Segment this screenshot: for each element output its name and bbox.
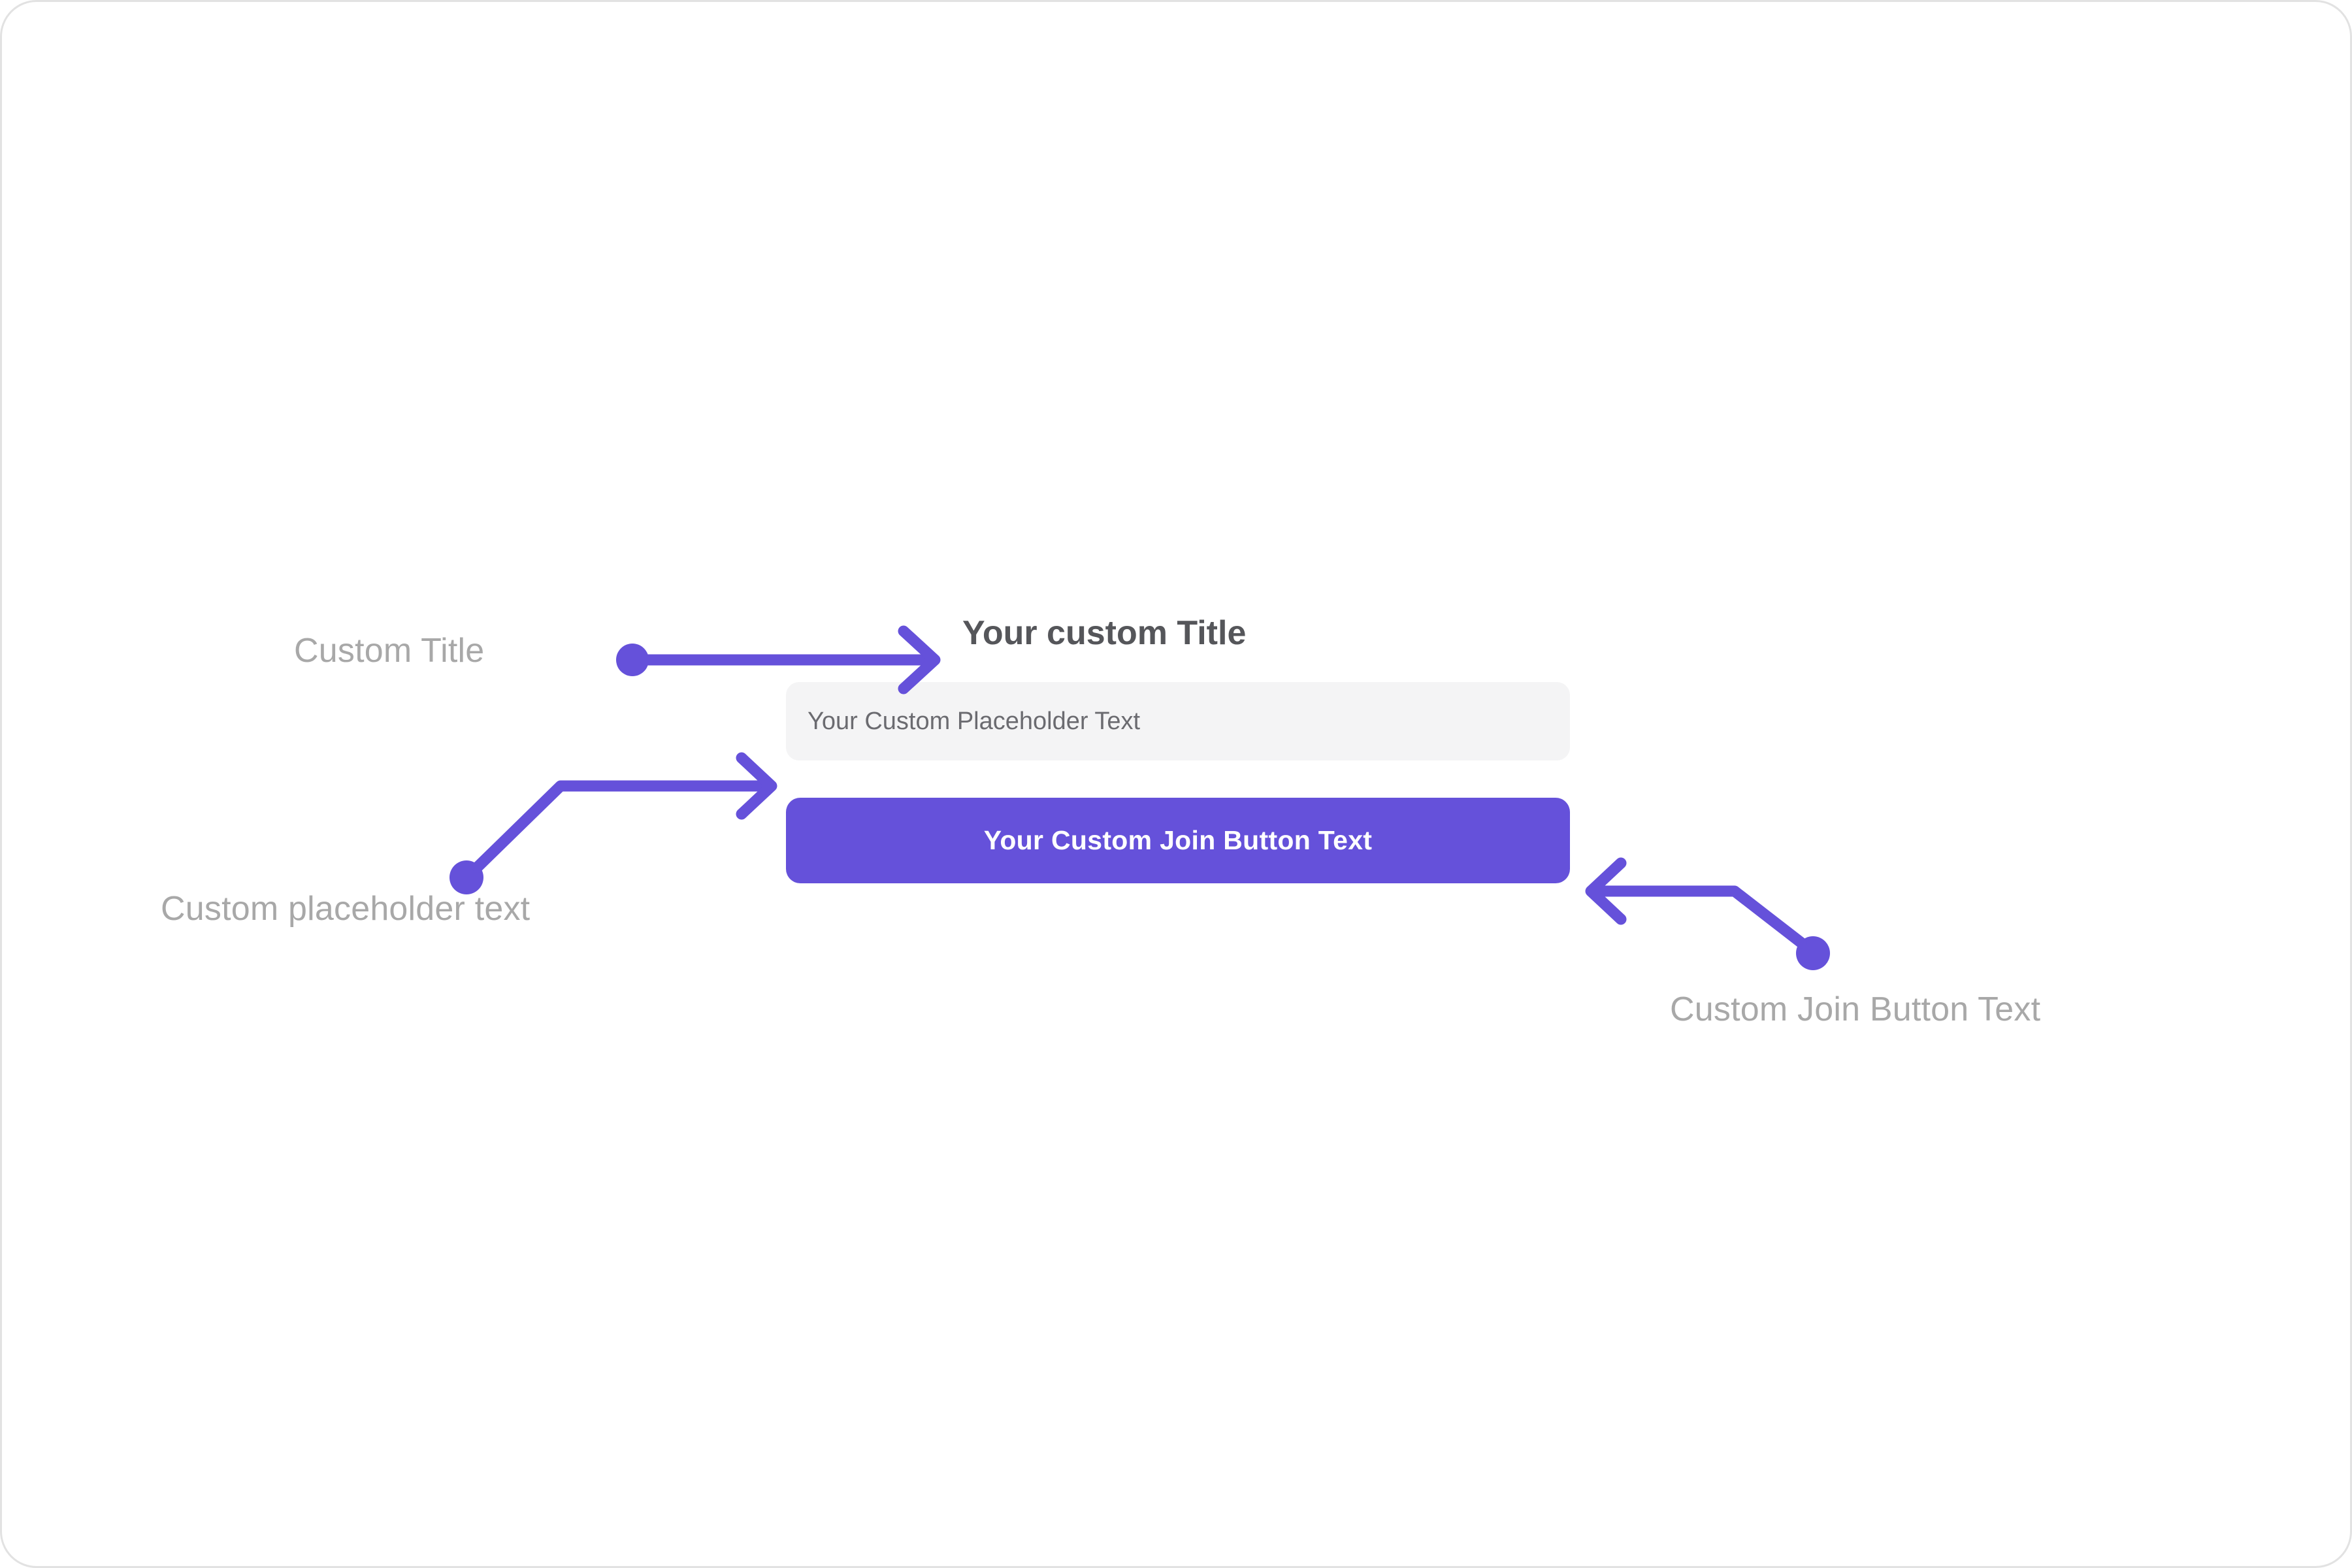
widget-join-button[interactable]: Your Custom Join Button Text (786, 798, 1570, 883)
annotation-dot-custom-join-button-text (1796, 936, 1830, 970)
widget-title: Your custom Title (786, 616, 1570, 650)
annotation-dot-custom-title (616, 644, 649, 676)
annotation-line-custom-placeholder-text (478, 786, 766, 867)
annotation-line-custom-join-button-text (1596, 891, 1801, 943)
screenshot-frame: Custom Title Custom placeholder text Cus… (0, 0, 2352, 1568)
annotation-label-custom-join-button-text: Custom Join Button Text (1670, 992, 2040, 1026)
annotation-arrow-custom-placeholder-text (449, 758, 772, 894)
join-widget: Your custom Title Your Custom Join Butto… (786, 616, 1570, 883)
annotation-arrow-custom-join-button-text (1591, 863, 1830, 970)
annotation-label-custom-title: Custom Title (294, 634, 484, 668)
annotation-arrowhead-custom-join-button-text (1591, 863, 1621, 919)
annotation-label-custom-placeholder-text: Custom placeholder text (161, 892, 530, 926)
widget-placeholder-input[interactable] (786, 682, 1570, 760)
annotation-arrowhead-custom-placeholder-text (742, 758, 772, 814)
